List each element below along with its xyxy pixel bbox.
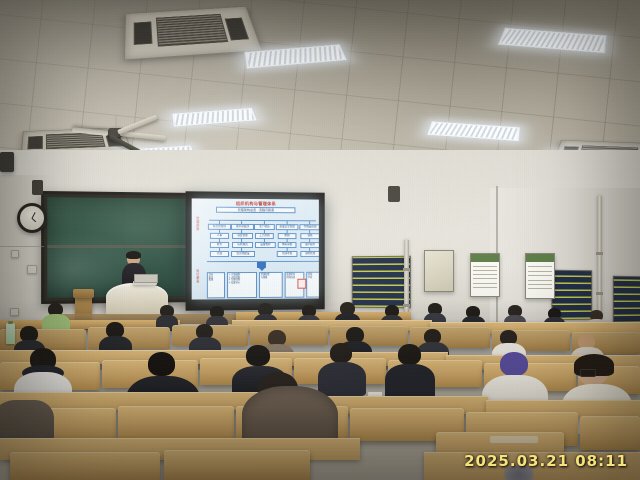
bench-seat-nearest bbox=[164, 450, 310, 480]
slide-subtitle: 管理架构总览 · 流程与职责 bbox=[216, 207, 296, 214]
slide-node: 培训考核 bbox=[277, 251, 298, 257]
slide-flow-arrow bbox=[257, 262, 266, 268]
glasses-icon bbox=[580, 369, 596, 377]
light-switch-icon[interactable] bbox=[11, 250, 19, 258]
bench-seat bbox=[250, 325, 328, 345]
slide-title: 组织机构与管理体系 bbox=[195, 200, 316, 206]
chalkboard-surface bbox=[47, 197, 192, 298]
bench-seat bbox=[580, 416, 640, 450]
water-bottle[interactable] bbox=[6, 323, 15, 344]
slide-node: 设备维护 bbox=[255, 242, 276, 248]
slide-panel: 资源配置 与保障 bbox=[259, 272, 283, 298]
slide-node: 行政 bbox=[210, 251, 229, 257]
wall-clock-icon bbox=[17, 203, 47, 233]
projection-screen: 组织机构与管理体系 管理架构总览 · 流程与职责 管理层级 执行要素 综合管理部… bbox=[186, 191, 325, 310]
framed-notice-poster bbox=[525, 253, 555, 299]
slide-side-label-top: 管理层级 bbox=[196, 217, 199, 231]
slide-org-chart: 管理层级 执行要素 综合管理部 技术研发部 生产制造 质量安全管理 市场运营部 bbox=[195, 215, 316, 300]
bench-seat bbox=[118, 406, 234, 440]
slide-panel: 绩效 考核 bbox=[306, 272, 319, 298]
bench-seat-nearest bbox=[10, 452, 160, 480]
slide-node: 标准规范 bbox=[232, 242, 253, 248]
slide-node: 现场管理 bbox=[300, 251, 319, 257]
laptop-icon bbox=[133, 281, 157, 285]
wall-seam bbox=[0, 246, 44, 247]
lecture-podium bbox=[106, 283, 168, 315]
desk-marking bbox=[490, 436, 538, 443]
slide-node: 项目管理 bbox=[232, 233, 253, 239]
light-switch-icon[interactable] bbox=[27, 265, 37, 274]
framed-notice-poster bbox=[470, 253, 500, 297]
framed-map bbox=[424, 250, 454, 292]
wall-speaker-icon bbox=[0, 152, 14, 172]
wooden-chair bbox=[73, 289, 94, 298]
slide-content: 组织机构与管理体系 管理架构总览 · 流程与职责 管理层级 执行要素 综合管理部… bbox=[192, 198, 319, 299]
classroom-photo: 组织机构与管理体系 管理架构总览 · 流程与职责 管理层级 执行要素 综合管理部… bbox=[0, 0, 640, 480]
slide-panel: 目标 职责 权限 bbox=[207, 272, 225, 298]
camera-timestamp: 2025.03.21 08:11 bbox=[464, 452, 628, 470]
wall-speaker-icon bbox=[32, 180, 43, 195]
slide-node: 技术研发部 bbox=[231, 224, 254, 230]
slide-side-label-bottom: 执行要素 bbox=[196, 269, 199, 283]
slide-panel: 1. 计划编制 2. 过程控制 3. 记录归档 4. 结果评价 bbox=[227, 272, 257, 298]
projection-screen-surface: 组织机构与管理体系 管理架构总览 · 流程与职责 管理层级 执行要素 综合管理部… bbox=[192, 198, 319, 299]
lecturer-hair bbox=[126, 251, 141, 259]
slide-highlight-box bbox=[297, 279, 306, 289]
slide-node: 信息化建设 bbox=[231, 251, 255, 257]
wall-speaker-icon bbox=[388, 186, 400, 202]
